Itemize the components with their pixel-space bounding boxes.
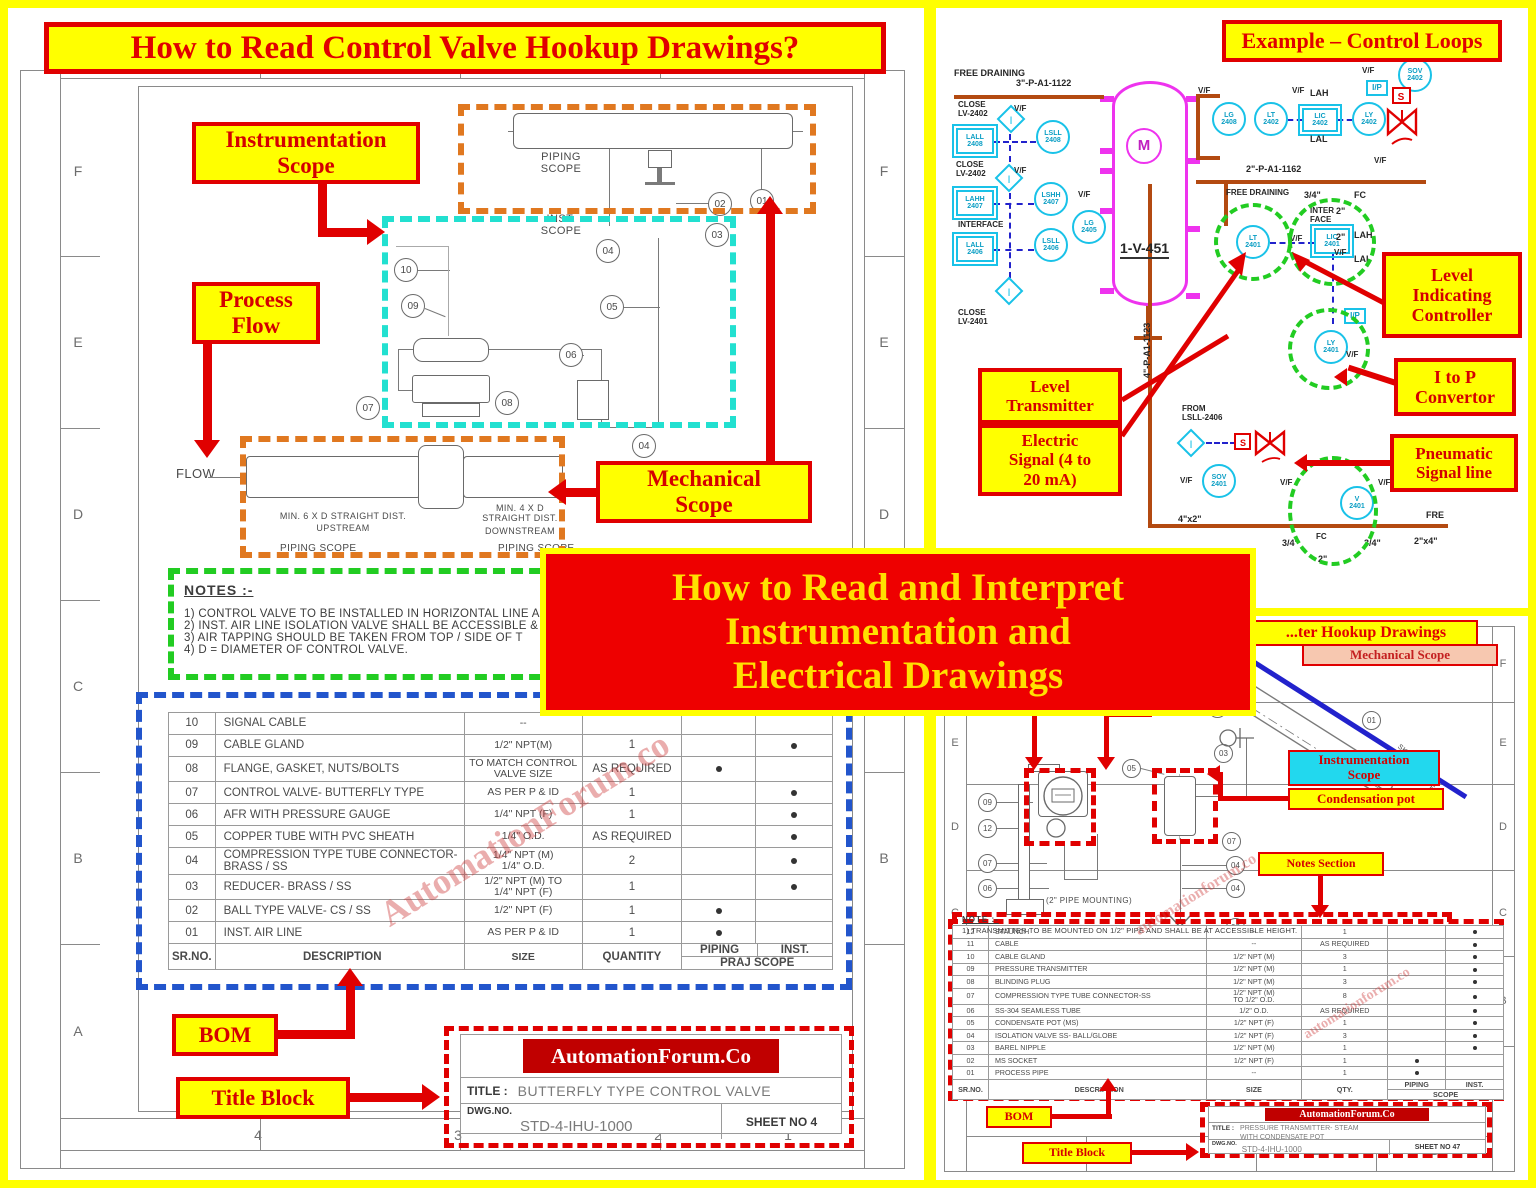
bom-right-cell-description: CABLE [988, 938, 1206, 951]
tag-IP-2402: I/P [1366, 80, 1388, 96]
bom-right-cell-qty: 1 [1302, 1042, 1388, 1055]
bom-right-cell-piping [1388, 1042, 1446, 1055]
bom-right-cell-description: PRESSURE TRANSMITTER [988, 963, 1206, 976]
bom-left-col-header-piping: PIPING [682, 944, 756, 956]
center-banner-line3: Electrical Drawings [733, 654, 1063, 698]
arrow-rb-bom [1099, 1078, 1117, 1091]
scope-dot-icon [716, 908, 722, 914]
tag-LT-2402: LT2402 [1254, 102, 1288, 136]
bom-right-cell-qty: 1 [1302, 963, 1388, 976]
bom-right-cell-qty: 3 [1302, 951, 1388, 964]
scope-dot-icon [1473, 955, 1477, 959]
bom-left-cell-size: 1/4" O.D. [464, 826, 582, 848]
bom-right-col-header: QTY. [1302, 1079, 1388, 1099]
bom-left-cell-piping [682, 875, 756, 900]
fre-label: FRE [1426, 510, 1444, 520]
scope-dot-icon [1473, 995, 1477, 999]
bom-table-left: 10SIGNAL CABLE--09CABLE GLAND1/2" NPT(M)… [168, 712, 833, 970]
bom-right-cell-inst [1446, 988, 1504, 1004]
callout-level-transmitter: Level Transmitter [978, 368, 1122, 424]
green-highlight-ly-2401 [1288, 308, 1370, 390]
center-banner-line2: Instrumentation and [725, 610, 1071, 654]
arrow-rb-transmitter-left [1025, 757, 1043, 770]
bom-left-cell-size: 1/2" NPT (M) TO 1/4" NPT (F) [464, 875, 582, 900]
bom-left-cell-piping [682, 922, 756, 944]
rb-title-block-logo: AutomationForum.Co [1265, 1108, 1429, 1121]
bom-right-col-header: PIPINGINST.SCOPE [1388, 1079, 1504, 1099]
center-banner-line1: How to Read and Interpret [672, 566, 1124, 610]
fc-label-upper: FC [1354, 190, 1366, 200]
bom-right-cell-inst [1446, 926, 1504, 939]
bom-left-cell-piping [682, 826, 756, 848]
bom-left-cell-qty: 2 [582, 848, 682, 875]
scope-dot-icon [1473, 930, 1477, 934]
bom-left-cell-qty: 1 [582, 804, 682, 826]
bom-left-cell-description: BALL TYPE VALVE- CS / SS [215, 900, 464, 922]
scope-dot-icon [1415, 1059, 1419, 1063]
rb-balloon-09: 09 [978, 793, 997, 812]
control-valve-2401 [1254, 428, 1288, 464]
bom-left-cell-piping [682, 848, 756, 875]
bom-left-cell-size: AS PER P & ID [464, 922, 582, 944]
tag-LALL-2406: LALL2406 [956, 236, 994, 262]
frame-row-label-f-right: F [864, 86, 904, 256]
bom-right-cell-sr: 06 [953, 1004, 989, 1017]
bom-left-cell-inst [756, 735, 833, 757]
bom-left-cell-inst [756, 848, 833, 875]
bom-left-cell-sr: 05 [169, 826, 216, 848]
bom-right-cell-sr: 07 [953, 988, 989, 1004]
svg-text:I: I [1007, 174, 1010, 186]
scope-dot-icon [1415, 1071, 1419, 1075]
bom-right-cell-description: PROCESS PIPE [988, 1067, 1206, 1080]
bom-left-cell-description: CONTROL VALVE- BUTTERFLY TYPE [215, 782, 464, 804]
bom-left-cell-qty: 1 [582, 735, 682, 757]
bom-right-cell-inst [1446, 1004, 1504, 1017]
arrow-pneumatic-signal [1294, 454, 1307, 472]
bom-left-cell-qty: 1 [582, 782, 682, 804]
bom-left-cell-inst [756, 804, 833, 826]
bom-left-col-header: SR.NO. [169, 944, 216, 970]
balloon-07: 07 [356, 396, 380, 420]
bom-left-cell-qty: AS REQUIRED [582, 757, 682, 782]
tag-LY-2402: LY2402 [1352, 102, 1386, 136]
callout-level-indicating-controller: Level Indicating Controller [1382, 252, 1522, 338]
tag-LSLL-2408: LSLL2408 [1036, 120, 1070, 154]
arrow-mechanical-scope-up [757, 196, 783, 214]
scope-dot-icon [716, 766, 722, 772]
rb-balloon-07: 07 [978, 854, 997, 873]
dwg-value-left: STD-4-IHU-1000 [520, 1118, 633, 1135]
flow-label: FLOW [176, 466, 215, 481]
bom-right-cell-inst [1446, 1042, 1504, 1055]
bom-right-cell-qty: 1 [1302, 1054, 1388, 1067]
rb-title-row: TITLE : PRESSURE TRANSMITTER- STEAM WITH… [1209, 1122, 1485, 1139]
bom-right-cell-sr: 11 [953, 938, 989, 951]
bom-left-cell-piping [682, 757, 756, 782]
table-row: 07CONTROL VALVE- BUTTERFLY TYPEAS PER P … [169, 782, 833, 804]
vf-lv-left: V/F [1280, 478, 1292, 487]
bom-right-cell-sr: 08 [953, 976, 989, 989]
frame-row-label-a: A [60, 944, 96, 1118]
note-item-2: 2) INST. AIR LINE ISOLATION VALVE SHALL … [184, 620, 584, 632]
scope-dot-icon [1473, 1021, 1477, 1025]
rb-balloon-07b: 07 [1222, 832, 1241, 851]
callout-rb-notes-section: Notes Section [1258, 852, 1384, 876]
callout-title-block: Title Block [176, 1077, 350, 1119]
svg-text:I: I [1009, 115, 1012, 127]
rb-dwg-row: DWG.NO. STD-4-IHU-1000 SHEET NO 47 [1209, 1139, 1485, 1155]
bom-left-scope-label: PRAJ SCOPE [682, 956, 832, 969]
bom-right-cell-qty: 1 [1302, 1067, 1388, 1080]
free-draining-label-left: FREE DRAINING [954, 68, 1025, 78]
page-title: How to Read Control Valve Hookup Drawing… [44, 22, 886, 74]
scope-dot-icon [791, 743, 797, 749]
scope-dot-icon [791, 812, 797, 818]
vf-lv-right: V/F [1378, 478, 1390, 487]
rb-balloon-01: 01 [1362, 711, 1381, 730]
line-number-1162: 2"-P-A1-1162 [1246, 164, 1301, 174]
callout-pneumatic-signal-line: Pneumatic Signal line [1390, 434, 1518, 492]
bom-left-cell-piping [682, 900, 756, 922]
callout-i-to-p-convertor: I to P Convertor [1394, 358, 1516, 416]
bom-right-col-header-inst: INST. [1445, 1080, 1503, 1089]
tag-LG-2405: LG2405 [1072, 210, 1106, 244]
close-lv-2401: CLOSE LV-2401 [958, 308, 988, 326]
rb-note-item-1: 1) TRANSMITTER TO BE MOUNTED ON 1/2" PIP… [962, 926, 1297, 935]
bom-left-cell-description: AFR WITH PRESSURE GAUGE [215, 804, 464, 826]
bom-left-cell-sr: 06 [169, 804, 216, 826]
callout-electric-signal: Electric Signal (4 to 20 mA) [978, 424, 1122, 496]
rb-balloon-05: 05 [1122, 759, 1141, 778]
control-valve-2402 [1386, 106, 1420, 146]
bom-left-cell-description: FLANGE, GASKET, NUTS/BOLTS [215, 757, 464, 782]
bom-left-cell-sr: 09 [169, 735, 216, 757]
vf-2402-c: V/F [1362, 66, 1374, 75]
bom-left-cell-sr: 04 [169, 848, 216, 875]
table-row: 02MS SOCKET1/2" NPT (F)1 [953, 1054, 1504, 1067]
table-row: 04ISOLATION VALVE SS- BALL/GLOBE1/2" NPT… [953, 1029, 1504, 1042]
table-row: 05CONDENSATE POT (MS)1/2" NPT (F)1 [953, 1017, 1504, 1030]
scope-dot-icon [791, 884, 797, 890]
bom-left-cell-inst [756, 757, 833, 782]
bom-right-cell-piping [1388, 951, 1446, 964]
balloon-04-bottom: 04 [632, 434, 656, 458]
close-lv-2402-mid: CLOSE LV-2402 [956, 160, 986, 178]
frame-row-label-c: C [60, 600, 96, 772]
dwg-key-left: DWG.NO. [467, 1106, 512, 1117]
bom-right-cell-piping [1388, 1067, 1446, 1080]
bom-left-header-row: SR.NO.DESCRIPTIONSIZEQUANTITYPIPINGINST.… [169, 944, 833, 970]
bom-right-cell-description: ISOLATION VALVE SS- BALL/GLOBE [988, 1029, 1206, 1042]
bom-right-cell-inst [1446, 938, 1504, 951]
bom-left-cell-piping [682, 782, 756, 804]
rb-notes-block: NOTE :- 1) TRANSMITTER TO BE MOUNTED ON … [962, 915, 1297, 935]
title-block-left: AutomationForum.Co TITLE : BUTTERFLY TYP… [460, 1034, 842, 1134]
tag-LSHH-2407: LSHH2407 [1034, 182, 1068, 216]
note-item-4: 4) D = DIAMETER OF CONTROL VALVE. [184, 644, 584, 656]
bom-left-cell-sr: 01 [169, 922, 216, 944]
table-row: 08BLINDING PLUG1/2" NPT (M)3 [953, 976, 1504, 989]
rb-dwg-key: DWG.NO. [1212, 1141, 1237, 1147]
callout-rb-bom: BOM [986, 1106, 1052, 1128]
bom-right-cell-description: MS SOCKET [988, 1054, 1206, 1067]
table-row: 03REDUCER- BRASS / SS1/2" NPT (M) TO 1/4… [169, 875, 833, 900]
bom-right-cell-size: 1/2" O.D. [1206, 1004, 1302, 1017]
size-2x4: 2"x4" [1414, 536, 1438, 546]
svg-text:I: I [1189, 439, 1192, 451]
callout-rb-condensation-pot: Condensation pot [1288, 788, 1444, 810]
bom-right-cell-size: 1/2" NPT (M) [1206, 976, 1302, 989]
rb-balloon-06: 06 [978, 879, 997, 898]
piping-scope-box-bottom [240, 436, 565, 558]
callout-rb-mechanical-scope: Mechanical Scope [1302, 644, 1498, 666]
rb-notes-heading: NOTE :- [962, 915, 1297, 924]
scope-dot-icon [791, 858, 797, 864]
transmitter-highlight-box [1024, 768, 1096, 846]
bom-left-cell-description: CABLE GLAND [215, 735, 464, 757]
table-row: 03BAREL NIPPLE1/2" NPT (M)1 [953, 1042, 1504, 1055]
vf-label-1: V/F [1014, 104, 1026, 113]
bom-right-cell-size: -- [1206, 1067, 1302, 1080]
bom-right-cell-size: 1/2" NPT (M) [1206, 963, 1302, 976]
bom-right-cell-inst [1446, 976, 1504, 989]
bom-right-scope-label: SCOPE [1388, 1089, 1503, 1099]
table-row: 04COMPRESSION TYPE TUBE CONNECTOR- BRASS… [169, 848, 833, 875]
bom-right-cell-inst [1446, 1017, 1504, 1030]
bom-right-cell-size: 1/2" NPT (M) [1206, 951, 1302, 964]
table-row: 02BALL TYPE VALVE- CS / SS1/2" NPT (F)1 [169, 900, 833, 922]
bom-left-cell-sr: 03 [169, 875, 216, 900]
table-row: 06SS-304 SEAMLESS TUBE1/2" O.D.AS REQUIR… [953, 1004, 1504, 1017]
frame-row-label-b: B [60, 772, 96, 944]
bom-left-cell-size: 1/4" NPT (F) [464, 804, 582, 826]
frame-row-label-f: F [60, 86, 96, 256]
bom-left-cell-piping [682, 735, 756, 757]
bom-left-cell-inst [756, 922, 833, 944]
title-value-left: BUTTERFLY TYPE CONTROL VALVE [518, 1083, 771, 1099]
bom-body-left: 10SIGNAL CABLE--09CABLE GLAND1/2" NPT(M)… [169, 713, 833, 970]
interface-label-left: INTERFACE [958, 220, 1003, 229]
table-row: 10CABLE GLAND1/2" NPT (M)3 [953, 951, 1504, 964]
interlock-diamond-3: I [994, 276, 1024, 306]
bom-left-cell-qty: AS REQUIRED [582, 826, 682, 848]
bom-right-cell-qty: 1 [1302, 1017, 1388, 1030]
lah-2402: LAH [1310, 88, 1329, 98]
callout-rb-instrumentation-scope: Instrumentation Scope [1288, 750, 1440, 786]
scope-dot-icon [791, 834, 797, 840]
bom-left-cell-sr: 02 [169, 900, 216, 922]
bom-right-cell-sr: 10 [953, 951, 989, 964]
scope-dot-icon [1473, 1009, 1477, 1013]
motor-tag-label: M [1138, 138, 1151, 154]
arrow-level-transmitter [1118, 250, 1248, 440]
arrow-rb-condensation-pot [1207, 765, 1220, 783]
bom-right-col-header: SIZE [1206, 1079, 1302, 1099]
center-banner: How to Read and Interpret Instrumentatio… [540, 548, 1256, 716]
callout-mechanical-scope: Mechanical Scope [596, 461, 812, 523]
bom-left-cell-piping [682, 804, 756, 826]
bom-right-col-header: DESCRIPTION [988, 1079, 1206, 1099]
scope-dot-icon [716, 930, 722, 936]
bom-right-col-header-piping: PIPING [1388, 1080, 1445, 1089]
tag-LSLL-2406: LSLL2406 [1034, 228, 1068, 262]
table-row: 09CABLE GLAND1/2" NPT(M)1 [169, 735, 833, 757]
bom-right-cell-inst [1446, 1067, 1504, 1080]
note-item-1: 1) CONTROL VALVE TO BE INSTALLED IN HORI… [184, 608, 584, 620]
arrow-bom [337, 968, 363, 986]
instrumentation-scope-box [382, 216, 736, 428]
scope-dot-icon [1473, 1034, 1477, 1038]
vf-label-lg2405: V/F [1078, 190, 1090, 199]
bom-right-cell-qty: 1 [1302, 926, 1388, 939]
bom-right-cell-sr: 01 [953, 1067, 989, 1080]
bom-right-cell-description: COMPRESSION TYPE TUBE CONNECTOR-SS [988, 988, 1206, 1004]
tag-LG-2408: LG2408 [1212, 102, 1246, 136]
vf-sov-2401: V/F [1180, 476, 1192, 485]
frame-row-label-d: D [60, 428, 96, 600]
rb-title-block: AutomationForum.Co TITLE : PRESSURE TRAN… [1208, 1106, 1486, 1154]
bom-left-cell-size: TO MATCH CONTROL VALVE SIZE [464, 757, 582, 782]
bom-right-cell-piping [1388, 1029, 1446, 1042]
bom-right-cell-piping [1388, 1054, 1446, 1067]
bom-left-cell-sr: 07 [169, 782, 216, 804]
table-row: 01PROCESS PIPE--1 [953, 1067, 1504, 1080]
scope-dot-icon [1473, 980, 1477, 984]
table-row: 09PRESSURE TRANSMITTER1/2" NPT (M)1 [953, 963, 1504, 976]
rb-balloon-04b: 04 [1226, 856, 1245, 875]
tag-SOV-2401: SOV2401 [1202, 464, 1236, 498]
bom-right-cell-inst [1446, 951, 1504, 964]
bom-left-cell-size: AS PER P & ID [464, 782, 582, 804]
svg-text:S: S [1398, 92, 1405, 103]
bom-left-cell-inst [756, 900, 833, 922]
bom-left-cell-description: REDUCER- BRASS / SS [215, 875, 464, 900]
bom-right-col-header: SR.NO. [953, 1079, 989, 1099]
bom-right-cell-size: 1/2" NPT (F) [1206, 1054, 1302, 1067]
frame-row-label-b-right: B [864, 772, 904, 944]
callout-instrumentation-scope: Instrumentation Scope [192, 122, 420, 184]
table-row: 11CABLE--AS REQUIRED [953, 938, 1504, 951]
solenoid-s-box-2402: S [1391, 86, 1413, 106]
bom-right-cell-size: 1/2" NPT (F) [1206, 1017, 1302, 1030]
vf-2402-a: V/F [1198, 86, 1210, 95]
sheet-no-left: SHEET NO 4 [746, 1115, 817, 1129]
bom-left-cell-qty: 1 [582, 922, 682, 944]
bom-right-cell-description: SS-304 SEAMLESS TUBE [988, 1004, 1206, 1017]
note-item-3: 3) AIR TAPPING SHOULD BE TAKEN FROM TOP … [184, 632, 584, 644]
bom-left-col-header: PIPINGINST.PRAJ SCOPE [682, 944, 833, 970]
frame-row-label-e-right: E [864, 256, 904, 428]
table-row: 05COPPER TUBE WITH PVC SHEATH1/4" O.D.AS… [169, 826, 833, 848]
size-34-upper: 3/4" [1304, 190, 1321, 200]
right-top-panel-title: Example – Control Loops [1222, 20, 1502, 62]
bom-left-cell-inst [756, 782, 833, 804]
bom-right-cell-description: CONDENSATE POT (MS) [988, 1017, 1206, 1030]
bom-left-cell-description: INST. AIR LINE [215, 922, 464, 944]
bom-right-cell-qty: AS REQUIRED [1302, 938, 1388, 951]
bom-left-cell-size: 1/2" NPT (F) [464, 900, 582, 922]
table-row: 07COMPRESSION TYPE TUBE CONNECTOR-SS1/2"… [953, 988, 1504, 1004]
vf-2402-b: V/F [1292, 86, 1304, 95]
svg-text:I: I [1007, 287, 1010, 299]
bom-right-cell-sr: 03 [953, 1042, 989, 1055]
arrow-level-indicating-controller [1290, 250, 1390, 310]
bom-right-cell-piping [1388, 1004, 1446, 1017]
bom-left-cell-inst [756, 875, 833, 900]
scope-dot-icon [1473, 1046, 1477, 1050]
bom-right-cell-sr: 05 [953, 1017, 989, 1030]
vf-label-2: V/F [1014, 166, 1026, 175]
notes-heading: NOTES :- [184, 582, 584, 598]
table-row: 08FLANGE, GASKET, NUTS/BOLTSTO MATCH CON… [169, 757, 833, 782]
bom-right-cell-inst [1446, 1054, 1504, 1067]
line-number-1122: 3"-P-A1-1122 [1016, 78, 1071, 88]
motor-tag: M [1126, 128, 1162, 164]
bom-right-cell-piping [1388, 1017, 1446, 1030]
arrow-instrumentation-scope [367, 219, 385, 245]
bom-right-cell-piping [1388, 988, 1446, 1004]
arrow-i-to-p [1334, 368, 1347, 386]
lal-2402: LAL [1310, 134, 1328, 144]
isolation-valve-icon [1214, 724, 1258, 752]
tag-LALL-2408: LALL2408 [956, 128, 994, 154]
bom-left-cell-size: 1/4" NPT (M) 1/4" O.D. [464, 848, 582, 875]
rb-balloon-12: 12 [978, 819, 997, 838]
bom-right-cell-piping [1388, 926, 1446, 939]
bom-right-header-row: SR.NO.DESCRIPTIONSIZEQTY.PIPINGINST.SCOP… [953, 1079, 1504, 1099]
table-row: 01INST. AIR LINEAS PER P & ID1 [169, 922, 833, 944]
scope-dot-icon [1473, 968, 1477, 972]
bom-left-cell-description: SIGNAL CABLE [215, 713, 464, 735]
tag-LAHH-2407: LAHH2407 [956, 190, 994, 216]
bom-left-col-header: DESCRIPTION [215, 944, 464, 970]
title-block-dwg-row-left: DWG.NO. STD-4-IHU-1000 SHEET NO 4 [461, 1103, 841, 1139]
table-row: 06AFR WITH PRESSURE GAUGE1/4" NPT (F)1 [169, 804, 833, 826]
frame-row-label-e: E [60, 256, 96, 428]
frame-col-label-bottom-4: 4 [158, 1124, 358, 1146]
bom-right-cell-size: 1/2" NPT (M) TO 1/2" O.D. [1206, 988, 1302, 1004]
callout-rb-title-block: Title Block [1022, 1142, 1132, 1164]
rb-title-key: TITLE : [1212, 1125, 1234, 1132]
arrow-title-block [422, 1084, 440, 1110]
free-draining-label-2: FREE DRAINING [1226, 188, 1289, 197]
bom-right-cell-qty: 3 [1302, 976, 1388, 989]
bom-right-cell-inst [1446, 1029, 1504, 1042]
title-block-logo-left: AutomationForum.Co [523, 1039, 779, 1073]
bom-right-cell-sr: 02 [953, 1054, 989, 1067]
title-key-left: TITLE : [467, 1084, 508, 1098]
arrow-mechanical-scope [548, 479, 566, 505]
infographic-root: 4 3 2 1 4 3 2 1 F E D C B A F E D B [0, 0, 1536, 1188]
bom-right-cell-size: 1/2" NPT (M) [1206, 1042, 1302, 1055]
close-lv-2402-top: CLOSE LV-2402 [958, 100, 988, 118]
bom-right-cell-qty: AS REQUIRED [1302, 1004, 1388, 1017]
rb-balloon-04: 04 [1226, 879, 1245, 898]
bom-left-cell-sr: 10 [169, 713, 216, 735]
bom-right-cell-qty: 8 [1302, 988, 1388, 1004]
arrow-rb-notes-section [1311, 905, 1329, 918]
tag-LIC-2402: LIC2402 [1302, 108, 1338, 132]
bom-right-cell-description: BLINDING PLUG [988, 976, 1206, 989]
arrow-rb-title-block [1186, 1143, 1199, 1161]
bom-left-cell-qty: 1 [582, 875, 682, 900]
pipe-mounting-label: (2" PIPE MOUNTING) [1046, 896, 1132, 905]
arrow-process-flow [194, 440, 220, 458]
rb-sheet-no: SHEET NO 47 [1415, 1144, 1461, 1151]
bom-right-cell-piping [1388, 938, 1446, 951]
bom-left-cell-size: 1/2" NPT(M) [464, 735, 582, 757]
